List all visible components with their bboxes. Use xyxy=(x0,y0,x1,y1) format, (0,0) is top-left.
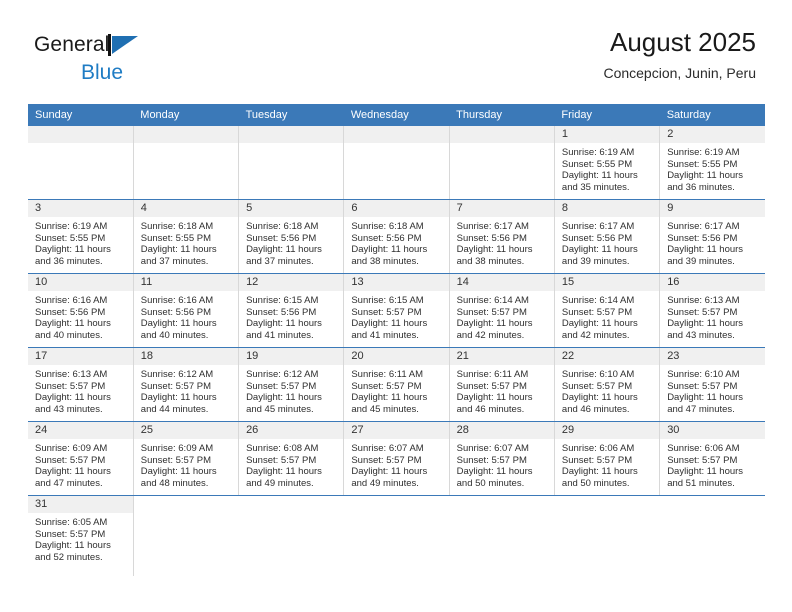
calendar-day-cell[interactable]: 16Sunrise: 6:13 AMSunset: 5:57 PMDayligh… xyxy=(660,274,765,348)
calendar-week-row: 3Sunrise: 6:19 AMSunset: 5:55 PMDaylight… xyxy=(28,200,765,274)
weekday-header-saturday: Saturday xyxy=(660,104,765,126)
day-details: Sunrise: 6:15 AMSunset: 5:57 PMDaylight:… xyxy=(344,291,448,341)
calendar-cell-blank xyxy=(660,496,765,577)
sunset-text: Sunset: 5:57 PM xyxy=(457,381,548,393)
calendar-day-cell[interactable]: 15Sunrise: 6:14 AMSunset: 5:57 PMDayligh… xyxy=(554,274,659,348)
daylight-text-line2: and 43 minutes. xyxy=(35,404,127,416)
sunrise-text: Sunrise: 6:13 AM xyxy=(667,295,759,307)
day-details: Sunrise: 6:18 AMSunset: 5:55 PMDaylight:… xyxy=(134,217,238,267)
calendar-day-cell[interactable]: 25Sunrise: 6:09 AMSunset: 5:57 PMDayligh… xyxy=(133,422,238,496)
day-details: Sunrise: 6:19 AMSunset: 5:55 PMDaylight:… xyxy=(555,143,659,193)
weekday-header-friday: Friday xyxy=(554,104,659,126)
daylight-text-line1: Daylight: 11 hours xyxy=(246,466,337,478)
calendar-day-cell[interactable]: 27Sunrise: 6:07 AMSunset: 5:57 PMDayligh… xyxy=(344,422,449,496)
daylight-text-line2: and 43 minutes. xyxy=(667,330,759,342)
calendar-cell-empty xyxy=(133,126,238,200)
day-details: Sunrise: 6:16 AMSunset: 5:56 PMDaylight:… xyxy=(134,291,238,341)
sunset-text: Sunset: 5:55 PM xyxy=(562,159,653,171)
calendar-day-cell[interactable]: 31Sunrise: 6:05 AMSunset: 5:57 PMDayligh… xyxy=(28,496,133,577)
daylight-text-line2: and 49 minutes. xyxy=(351,478,442,490)
logo-text-general: General xyxy=(34,34,109,55)
day-details: Sunrise: 6:09 AMSunset: 5:57 PMDaylight:… xyxy=(28,439,133,489)
sunrise-text: Sunrise: 6:14 AM xyxy=(562,295,653,307)
sunset-text: Sunset: 5:56 PM xyxy=(35,307,127,319)
flag-triangle-icon xyxy=(108,34,140,61)
calendar-cell-empty xyxy=(239,126,344,200)
daylight-text-line2: and 49 minutes. xyxy=(246,478,337,490)
calendar-cell-blank xyxy=(449,496,554,577)
sunset-text: Sunset: 5:57 PM xyxy=(457,307,548,319)
daylight-text-line1: Daylight: 11 hours xyxy=(35,318,127,330)
day-number: 17 xyxy=(28,348,133,365)
calendar-day-cell[interactable]: 6Sunrise: 6:18 AMSunset: 5:56 PMDaylight… xyxy=(344,200,449,274)
day-number: 25 xyxy=(134,422,238,439)
daylight-text-line2: and 51 minutes. xyxy=(667,478,759,490)
calendar-day-cell[interactable]: 13Sunrise: 6:15 AMSunset: 5:57 PMDayligh… xyxy=(344,274,449,348)
day-number-strip xyxy=(239,126,343,143)
daylight-text-line1: Daylight: 11 hours xyxy=(141,466,232,478)
sunrise-text: Sunrise: 6:16 AM xyxy=(35,295,127,307)
calendar-day-cell[interactable]: 17Sunrise: 6:13 AMSunset: 5:57 PMDayligh… xyxy=(28,348,133,422)
daylight-text-line1: Daylight: 11 hours xyxy=(35,244,127,256)
calendar-day-cell[interactable]: 3Sunrise: 6:19 AMSunset: 5:55 PMDaylight… xyxy=(28,200,133,274)
day-number: 16 xyxy=(660,274,765,291)
daylight-text-line2: and 38 minutes. xyxy=(351,256,442,268)
sunset-text: Sunset: 5:57 PM xyxy=(141,381,232,393)
day-details: Sunrise: 6:13 AMSunset: 5:57 PMDaylight:… xyxy=(660,291,765,341)
daylight-text-line2: and 37 minutes. xyxy=(141,256,232,268)
daylight-text-line1: Daylight: 11 hours xyxy=(667,170,759,182)
daylight-text-line1: Daylight: 11 hours xyxy=(35,466,127,478)
weekday-header-thursday: Thursday xyxy=(449,104,554,126)
sunset-text: Sunset: 5:57 PM xyxy=(35,381,127,393)
day-number: 6 xyxy=(344,200,448,217)
sunrise-text: Sunrise: 6:17 AM xyxy=(667,221,759,233)
sunrise-text: Sunrise: 6:15 AM xyxy=(246,295,337,307)
daylight-text-line1: Daylight: 11 hours xyxy=(667,392,759,404)
calendar-day-cell[interactable]: 1Sunrise: 6:19 AMSunset: 5:55 PMDaylight… xyxy=(554,126,659,200)
daylight-text-line2: and 41 minutes. xyxy=(351,330,442,342)
day-number-strip xyxy=(28,126,133,143)
daylight-text-line2: and 52 minutes. xyxy=(35,552,127,564)
sunset-text: Sunset: 5:56 PM xyxy=(351,233,442,245)
day-number-strip xyxy=(344,126,448,143)
daylight-text-line2: and 47 minutes. xyxy=(35,478,127,490)
daylight-text-line2: and 36 minutes. xyxy=(35,256,127,268)
sunrise-text: Sunrise: 6:14 AM xyxy=(457,295,548,307)
sunrise-text: Sunrise: 6:13 AM xyxy=(35,369,127,381)
calendar-day-cell[interactable]: 9Sunrise: 6:17 AMSunset: 5:56 PMDaylight… xyxy=(660,200,765,274)
day-details: Sunrise: 6:12 AMSunset: 5:57 PMDaylight:… xyxy=(239,365,343,415)
daylight-text-line1: Daylight: 11 hours xyxy=(35,540,127,552)
sunset-text: Sunset: 5:57 PM xyxy=(562,455,653,467)
daylight-text-line1: Daylight: 11 hours xyxy=(141,392,232,404)
calendar-cell-blank xyxy=(239,496,344,577)
daylight-text-line1: Daylight: 11 hours xyxy=(351,466,442,478)
weekday-header-monday: Monday xyxy=(133,104,238,126)
day-number: 26 xyxy=(239,422,343,439)
sunset-text: Sunset: 5:57 PM xyxy=(667,381,759,393)
day-details: Sunrise: 6:08 AMSunset: 5:57 PMDaylight:… xyxy=(239,439,343,489)
calendar-cell-blank xyxy=(133,496,238,577)
day-details: Sunrise: 6:10 AMSunset: 5:57 PMDaylight:… xyxy=(660,365,765,415)
day-number-strip xyxy=(450,126,554,143)
sunset-text: Sunset: 5:57 PM xyxy=(667,307,759,319)
daylight-text-line1: Daylight: 11 hours xyxy=(141,318,232,330)
daylight-text-line2: and 42 minutes. xyxy=(457,330,548,342)
calendar-day-cell[interactable]: 8Sunrise: 6:17 AMSunset: 5:56 PMDaylight… xyxy=(554,200,659,274)
day-details: Sunrise: 6:17 AMSunset: 5:56 PMDaylight:… xyxy=(660,217,765,267)
sunset-text: Sunset: 5:56 PM xyxy=(246,307,337,319)
day-number: 29 xyxy=(555,422,659,439)
sunrise-text: Sunrise: 6:10 AM xyxy=(667,369,759,381)
sunset-text: Sunset: 5:57 PM xyxy=(141,455,232,467)
calendar-day-cell[interactable]: 30Sunrise: 6:06 AMSunset: 5:57 PMDayligh… xyxy=(660,422,765,496)
weekday-header-sunday: Sunday xyxy=(28,104,133,126)
calendar-day-cell[interactable]: 5Sunrise: 6:18 AMSunset: 5:56 PMDaylight… xyxy=(239,200,344,274)
day-details: Sunrise: 6:19 AMSunset: 5:55 PMDaylight:… xyxy=(660,143,765,193)
page-title: August 2025 xyxy=(603,28,756,58)
daylight-text-line1: Daylight: 11 hours xyxy=(667,244,759,256)
sunrise-text: Sunrise: 6:17 AM xyxy=(457,221,548,233)
day-number: 20 xyxy=(344,348,448,365)
daylight-text-line1: Daylight: 11 hours xyxy=(141,244,232,256)
calendar-day-cell[interactable]: 12Sunrise: 6:15 AMSunset: 5:56 PMDayligh… xyxy=(239,274,344,348)
day-number: 2 xyxy=(660,126,765,143)
calendar-week-row: 24Sunrise: 6:09 AMSunset: 5:57 PMDayligh… xyxy=(28,422,765,496)
sunrise-text: Sunrise: 6:19 AM xyxy=(667,147,759,159)
calendar-day-cell[interactable]: 22Sunrise: 6:10 AMSunset: 5:57 PMDayligh… xyxy=(554,348,659,422)
day-details: Sunrise: 6:06 AMSunset: 5:57 PMDaylight:… xyxy=(555,439,659,489)
day-number: 18 xyxy=(134,348,238,365)
calendar-week-row: 17Sunrise: 6:13 AMSunset: 5:57 PMDayligh… xyxy=(28,348,765,422)
day-number: 10 xyxy=(28,274,133,291)
sunset-text: Sunset: 5:56 PM xyxy=(246,233,337,245)
sunset-text: Sunset: 5:57 PM xyxy=(246,455,337,467)
sunset-text: Sunset: 5:57 PM xyxy=(457,455,548,467)
sunset-text: Sunset: 5:57 PM xyxy=(351,381,442,393)
day-number: 8 xyxy=(555,200,659,217)
daylight-text-line1: Daylight: 11 hours xyxy=(667,318,759,330)
day-details: Sunrise: 6:07 AMSunset: 5:57 PMDaylight:… xyxy=(344,439,448,489)
calendar-day-cell[interactable]: 26Sunrise: 6:08 AMSunset: 5:57 PMDayligh… xyxy=(239,422,344,496)
page-header: General Blue August 2025 Concepcion, Jun… xyxy=(0,0,792,72)
calendar-day-cell[interactable]: 28Sunrise: 6:07 AMSunset: 5:57 PMDayligh… xyxy=(449,422,554,496)
day-details: Sunrise: 6:10 AMSunset: 5:57 PMDaylight:… xyxy=(555,365,659,415)
day-number: 23 xyxy=(660,348,765,365)
sunrise-text: Sunrise: 6:09 AM xyxy=(141,443,232,455)
daylight-text-line2: and 35 minutes. xyxy=(562,182,653,194)
day-number: 3 xyxy=(28,200,133,217)
daylight-text-line2: and 37 minutes. xyxy=(246,256,337,268)
daylight-text-line2: and 40 minutes. xyxy=(35,330,127,342)
day-details: Sunrise: 6:19 AMSunset: 5:55 PMDaylight:… xyxy=(28,217,133,267)
calendar-day-cell[interactable]: 23Sunrise: 6:10 AMSunset: 5:57 PMDayligh… xyxy=(660,348,765,422)
daylight-text-line2: and 36 minutes. xyxy=(667,182,759,194)
daylight-text-line1: Daylight: 11 hours xyxy=(246,244,337,256)
daylight-text-line2: and 47 minutes. xyxy=(667,404,759,416)
daylight-text-line1: Daylight: 11 hours xyxy=(35,392,127,404)
daylight-text-line2: and 39 minutes. xyxy=(562,256,653,268)
sunrise-text: Sunrise: 6:11 AM xyxy=(351,369,442,381)
sunrise-text: Sunrise: 6:18 AM xyxy=(246,221,337,233)
calendar-week-row: 1Sunrise: 6:19 AMSunset: 5:55 PMDaylight… xyxy=(28,126,765,200)
day-number: 30 xyxy=(660,422,765,439)
sunset-text: Sunset: 5:56 PM xyxy=(667,233,759,245)
sunrise-text: Sunrise: 6:07 AM xyxy=(351,443,442,455)
day-details: Sunrise: 6:11 AMSunset: 5:57 PMDaylight:… xyxy=(450,365,554,415)
day-details: Sunrise: 6:14 AMSunset: 5:57 PMDaylight:… xyxy=(450,291,554,341)
day-number: 11 xyxy=(134,274,238,291)
day-number: 22 xyxy=(555,348,659,365)
daylight-text-line2: and 38 minutes. xyxy=(457,256,548,268)
sunrise-text: Sunrise: 6:18 AM xyxy=(141,221,232,233)
sunrise-text: Sunrise: 6:11 AM xyxy=(457,369,548,381)
calendar-day-cell[interactable]: 20Sunrise: 6:11 AMSunset: 5:57 PMDayligh… xyxy=(344,348,449,422)
daylight-text-line1: Daylight: 11 hours xyxy=(351,392,442,404)
day-details: Sunrise: 6:05 AMSunset: 5:57 PMDaylight:… xyxy=(28,513,133,563)
day-details: Sunrise: 6:15 AMSunset: 5:56 PMDaylight:… xyxy=(239,291,343,341)
general-blue-logo[interactable]: General Blue xyxy=(34,34,214,86)
sunrise-text: Sunrise: 6:08 AM xyxy=(246,443,337,455)
calendar-cell-blank xyxy=(344,496,449,577)
day-number: 21 xyxy=(450,348,554,365)
sunrise-text: Sunrise: 6:19 AM xyxy=(35,221,127,233)
calendar-day-cell[interactable]: 14Sunrise: 6:14 AMSunset: 5:57 PMDayligh… xyxy=(449,274,554,348)
weekday-header-wednesday: Wednesday xyxy=(344,104,449,126)
day-details: Sunrise: 6:13 AMSunset: 5:57 PMDaylight:… xyxy=(28,365,133,415)
sunset-text: Sunset: 5:57 PM xyxy=(562,307,653,319)
day-number: 24 xyxy=(28,422,133,439)
sunset-text: Sunset: 5:55 PM xyxy=(141,233,232,245)
calendar-cell-empty xyxy=(344,126,449,200)
daylight-text-line1: Daylight: 11 hours xyxy=(457,466,548,478)
daylight-text-line1: Daylight: 11 hours xyxy=(351,244,442,256)
calendar-cell-empty xyxy=(449,126,554,200)
day-number: 15 xyxy=(555,274,659,291)
daylight-text-line2: and 45 minutes. xyxy=(351,404,442,416)
sunset-text: Sunset: 5:55 PM xyxy=(35,233,127,245)
sunset-text: Sunset: 5:57 PM xyxy=(246,381,337,393)
daylight-text-line2: and 40 minutes. xyxy=(141,330,232,342)
daylight-text-line1: Daylight: 11 hours xyxy=(457,244,548,256)
day-details: Sunrise: 6:09 AMSunset: 5:57 PMDaylight:… xyxy=(134,439,238,489)
sunrise-text: Sunrise: 6:12 AM xyxy=(141,369,232,381)
calendar-day-cell[interactable]: 2Sunrise: 6:19 AMSunset: 5:55 PMDaylight… xyxy=(660,126,765,200)
day-number: 31 xyxy=(28,496,133,513)
day-number: 4 xyxy=(134,200,238,217)
daylight-text-line1: Daylight: 11 hours xyxy=(457,318,548,330)
daylight-text-line2: and 50 minutes. xyxy=(562,478,653,490)
sunset-text: Sunset: 5:57 PM xyxy=(35,529,127,541)
calendar-day-cell[interactable]: 18Sunrise: 6:12 AMSunset: 5:57 PMDayligh… xyxy=(133,348,238,422)
day-number: 5 xyxy=(239,200,343,217)
calendar-day-cell[interactable]: 21Sunrise: 6:11 AMSunset: 5:57 PMDayligh… xyxy=(449,348,554,422)
daylight-text-line1: Daylight: 11 hours xyxy=(246,392,337,404)
sunrise-text: Sunrise: 6:05 AM xyxy=(35,517,127,529)
calendar-day-cell[interactable]: 10Sunrise: 6:16 AMSunset: 5:56 PMDayligh… xyxy=(28,274,133,348)
day-details: Sunrise: 6:16 AMSunset: 5:56 PMDaylight:… xyxy=(28,291,133,341)
sunrise-text: Sunrise: 6:15 AM xyxy=(351,295,442,307)
day-number: 14 xyxy=(450,274,554,291)
daylight-text-line2: and 39 minutes. xyxy=(667,256,759,268)
calendar-day-cell[interactable]: 7Sunrise: 6:17 AMSunset: 5:56 PMDaylight… xyxy=(449,200,554,274)
sunset-text: Sunset: 5:57 PM xyxy=(562,381,653,393)
sunrise-text: Sunrise: 6:09 AM xyxy=(35,443,127,455)
calendar-cell-empty xyxy=(28,126,133,200)
day-details: Sunrise: 6:11 AMSunset: 5:57 PMDaylight:… xyxy=(344,365,448,415)
daylight-text-line1: Daylight: 11 hours xyxy=(562,318,653,330)
sunrise-text: Sunrise: 6:10 AM xyxy=(562,369,653,381)
calendar-body: 1Sunrise: 6:19 AMSunset: 5:55 PMDaylight… xyxy=(28,126,765,576)
daylight-text-line2: and 46 minutes. xyxy=(562,404,653,416)
sunrise-text: Sunrise: 6:07 AM xyxy=(457,443,548,455)
daylight-text-line1: Daylight: 11 hours xyxy=(562,244,653,256)
daylight-text-line2: and 41 minutes. xyxy=(246,330,337,342)
daylight-text-line1: Daylight: 11 hours xyxy=(562,392,653,404)
sunset-text: Sunset: 5:55 PM xyxy=(667,159,759,171)
day-number: 19 xyxy=(239,348,343,365)
day-number: 7 xyxy=(450,200,554,217)
daylight-text-line1: Daylight: 11 hours xyxy=(246,318,337,330)
day-number: 13 xyxy=(344,274,448,291)
sunset-text: Sunset: 5:56 PM xyxy=(562,233,653,245)
sunrise-text: Sunrise: 6:18 AM xyxy=(351,221,442,233)
day-number: 27 xyxy=(344,422,448,439)
calendar-cell-blank xyxy=(554,496,659,577)
sunset-text: Sunset: 5:57 PM xyxy=(351,455,442,467)
calendar-day-cell[interactable]: 29Sunrise: 6:06 AMSunset: 5:57 PMDayligh… xyxy=(554,422,659,496)
sunset-text: Sunset: 5:56 PM xyxy=(141,307,232,319)
day-number: 28 xyxy=(450,422,554,439)
daylight-text-line2: and 48 minutes. xyxy=(141,478,232,490)
calendar-header-row: Sunday Monday Tuesday Wednesday Thursday… xyxy=(28,104,765,126)
calendar-day-cell[interactable]: 11Sunrise: 6:16 AMSunset: 5:56 PMDayligh… xyxy=(133,274,238,348)
day-details: Sunrise: 6:12 AMSunset: 5:57 PMDaylight:… xyxy=(134,365,238,415)
day-details: Sunrise: 6:07 AMSunset: 5:57 PMDaylight:… xyxy=(450,439,554,489)
sunrise-text: Sunrise: 6:06 AM xyxy=(667,443,759,455)
daylight-text-line1: Daylight: 11 hours xyxy=(351,318,442,330)
day-details: Sunrise: 6:06 AMSunset: 5:57 PMDaylight:… xyxy=(660,439,765,489)
day-details: Sunrise: 6:17 AMSunset: 5:56 PMDaylight:… xyxy=(555,217,659,267)
calendar-day-cell[interactable]: 19Sunrise: 6:12 AMSunset: 5:57 PMDayligh… xyxy=(239,348,344,422)
day-number: 1 xyxy=(555,126,659,143)
logo-text-blue: Blue xyxy=(81,62,214,83)
daylight-text-line1: Daylight: 11 hours xyxy=(667,466,759,478)
sunrise-text: Sunrise: 6:06 AM xyxy=(562,443,653,455)
day-number: 9 xyxy=(660,200,765,217)
day-details: Sunrise: 6:18 AMSunset: 5:56 PMDaylight:… xyxy=(239,217,343,267)
calendar-day-cell[interactable]: 4Sunrise: 6:18 AMSunset: 5:55 PMDaylight… xyxy=(133,200,238,274)
daylight-text-line2: and 44 minutes. xyxy=(141,404,232,416)
daylight-text-line1: Daylight: 11 hours xyxy=(562,466,653,478)
daylight-text-line2: and 42 minutes. xyxy=(562,330,653,342)
calendar-week-row: 31Sunrise: 6:05 AMSunset: 5:57 PMDayligh… xyxy=(28,496,765,577)
sunrise-text: Sunrise: 6:16 AM xyxy=(141,295,232,307)
day-details: Sunrise: 6:17 AMSunset: 5:56 PMDaylight:… xyxy=(450,217,554,267)
daylight-text-line1: Daylight: 11 hours xyxy=(562,170,653,182)
sunset-text: Sunset: 5:57 PM xyxy=(667,455,759,467)
weekday-header-tuesday: Tuesday xyxy=(239,104,344,126)
sunset-text: Sunset: 5:56 PM xyxy=(457,233,548,245)
calendar-table: Sunday Monday Tuesday Wednesday Thursday… xyxy=(28,104,765,576)
calendar-day-cell[interactable]: 24Sunrise: 6:09 AMSunset: 5:57 PMDayligh… xyxy=(28,422,133,496)
daylight-text-line2: and 45 minutes. xyxy=(246,404,337,416)
sunset-text: Sunset: 5:57 PM xyxy=(351,307,442,319)
daylight-text-line2: and 50 minutes. xyxy=(457,478,548,490)
sunrise-text: Sunrise: 6:12 AM xyxy=(246,369,337,381)
sunrise-text: Sunrise: 6:19 AM xyxy=(562,147,653,159)
day-number-strip xyxy=(134,126,238,143)
daylight-text-line1: Daylight: 11 hours xyxy=(457,392,548,404)
day-details: Sunrise: 6:18 AMSunset: 5:56 PMDaylight:… xyxy=(344,217,448,267)
calendar-week-row: 10Sunrise: 6:16 AMSunset: 5:56 PMDayligh… xyxy=(28,274,765,348)
title-block: August 2025 Concepcion, Junin, Peru xyxy=(603,28,756,81)
day-number: 12 xyxy=(239,274,343,291)
sunrise-text: Sunrise: 6:17 AM xyxy=(562,221,653,233)
day-details: Sunrise: 6:14 AMSunset: 5:57 PMDaylight:… xyxy=(555,291,659,341)
daylight-text-line2: and 46 minutes. xyxy=(457,404,548,416)
sunset-text: Sunset: 5:57 PM xyxy=(35,455,127,467)
page-subtitle-location: Concepcion, Junin, Peru xyxy=(603,66,756,81)
